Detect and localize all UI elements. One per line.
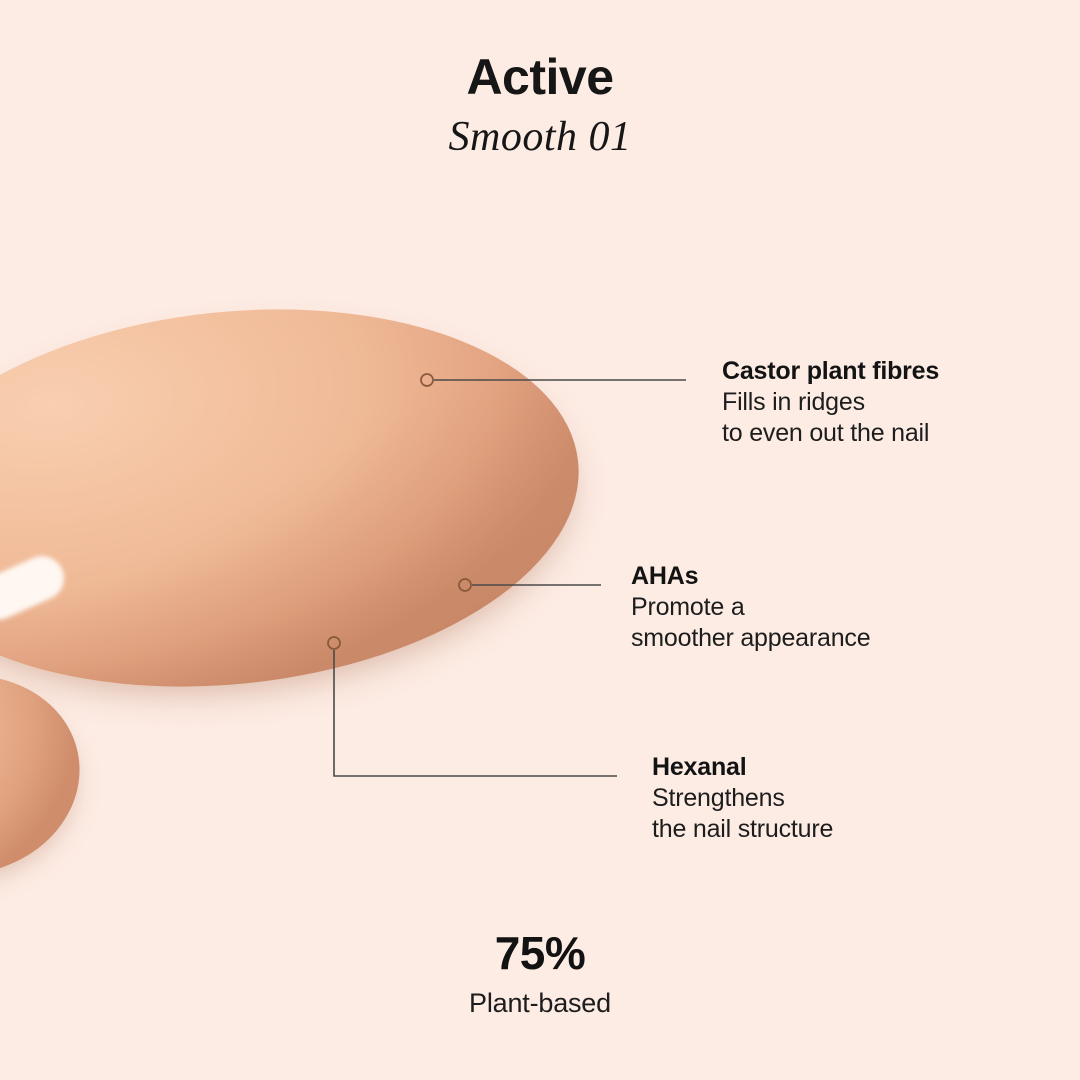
annotation-castor-plant-fibres: Castor plant fibres Fills in ridges to e…	[722, 356, 939, 449]
leader-line-hexanal	[328, 637, 617, 776]
page-subtitle: Smooth 01	[0, 116, 1080, 158]
plant-based-stat: 75% Plant-based	[0, 930, 1080, 1017]
product-ingredient-infographic: Active Smooth 01 Castor plant fibres Fil…	[0, 0, 1080, 1080]
stat-label: Plant-based	[0, 990, 1080, 1017]
leader-dot-icon	[421, 374, 433, 386]
annotation-title: AHAs	[631, 561, 870, 592]
annotation-description-line-2: smoother appearance	[631, 623, 870, 654]
leader-line-icon	[334, 650, 617, 776]
annotation-ahas: AHAs Promote a smoother appearance	[631, 561, 870, 654]
annotation-title: Hexanal	[652, 752, 833, 783]
leader-line-castor	[421, 374, 686, 386]
annotation-description-line-2: to even out the nail	[722, 418, 939, 449]
annotation-title: Castor plant fibres	[722, 356, 939, 387]
header: Active Smooth 01	[0, 52, 1080, 158]
annotation-description-line-2: the nail structure	[652, 814, 833, 845]
leader-lines-group	[0, 0, 1080, 1080]
annotation-hexanal: Hexanal Strengthens the nail structure	[652, 752, 833, 845]
annotation-description-line-1: Fills in ridges	[722, 387, 939, 418]
annotation-description-line-1: Strengthens	[652, 783, 833, 814]
page-title: Active	[0, 52, 1080, 102]
leader-line-ahas	[459, 579, 601, 591]
leader-dot-icon	[459, 579, 471, 591]
annotation-description-line-1: Promote a	[631, 592, 870, 623]
leader-dot-icon	[328, 637, 340, 649]
stat-value: 75%	[0, 930, 1080, 976]
